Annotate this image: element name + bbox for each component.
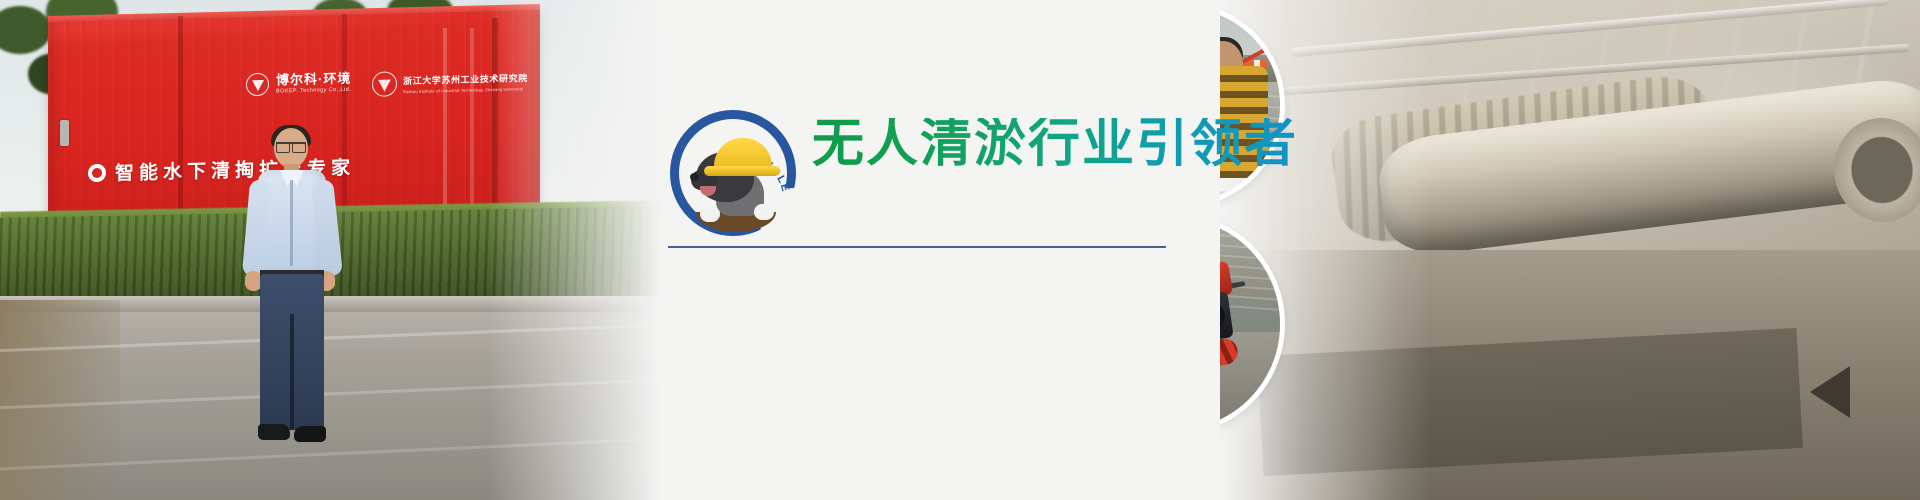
brand-secondary-cn: 浙江大学苏州工业技术研究院 xyxy=(403,71,528,87)
center-content: MUD MOLE 无人清淤行业引领者 xyxy=(660,0,1220,500)
flow-arrow-icon xyxy=(1810,366,1850,418)
dirt-patch xyxy=(0,300,120,500)
dredging-robot-photo xyxy=(1220,218,1280,430)
water-ripples xyxy=(1220,218,1280,316)
container-latch xyxy=(60,120,69,146)
brand-primary-cn: 博尔科·环境 xyxy=(276,71,351,86)
container-brand-secondary: 浙江大学苏州工业技术研究院 Suzhou Institute of Indust… xyxy=(372,68,528,97)
container-seam xyxy=(178,16,183,232)
person-left-shoe xyxy=(258,424,290,440)
mole-nose xyxy=(690,173,699,181)
hero-banner: 博尔科·环境 BOKEP. Technogy Co.,Ltd. 浙江大学苏州工业… xyxy=(0,0,1920,500)
slogan-bullet-icon xyxy=(88,163,106,181)
trouser-seam xyxy=(290,314,294,430)
container-door-bar xyxy=(470,28,474,224)
mole-right-paw xyxy=(754,204,774,220)
university-seal-icon xyxy=(372,71,397,97)
container-brand-primary: 博尔科·环境 BOKEP. Technogy Co.,Ltd. xyxy=(246,71,351,97)
container-door-bar xyxy=(443,28,447,224)
right-photo-group xyxy=(1220,0,1920,500)
boke-seal-icon xyxy=(246,73,269,97)
container-site-photo: 博尔科·环境 BOKEP. Technogy Co.,Ltd. 浙江大学苏州工业… xyxy=(0,0,660,500)
person-right-shoe xyxy=(294,426,326,442)
mole-mascot-icon xyxy=(692,126,778,222)
safety-railing xyxy=(1220,191,1280,198)
headline-text: 无人清淤行业引领者 xyxy=(812,118,1298,170)
sludge-discharge-pipe-photo xyxy=(1220,0,1920,500)
shirt-placket xyxy=(290,180,293,266)
mole-left-paw xyxy=(700,206,720,222)
brand-secondary-en: Suzhou Institute of Industrial Technolog… xyxy=(403,86,528,94)
brand-primary-en: BOKEP. Technogy Co.,Ltd. xyxy=(276,87,351,94)
container-seam xyxy=(492,18,498,230)
hard-hat-brim xyxy=(704,166,780,176)
eyeglasses-icon xyxy=(276,142,306,151)
mud-mole-logo: MUD MOLE xyxy=(670,110,796,236)
headline-divider xyxy=(668,246,1166,248)
person-standing xyxy=(238,128,346,468)
